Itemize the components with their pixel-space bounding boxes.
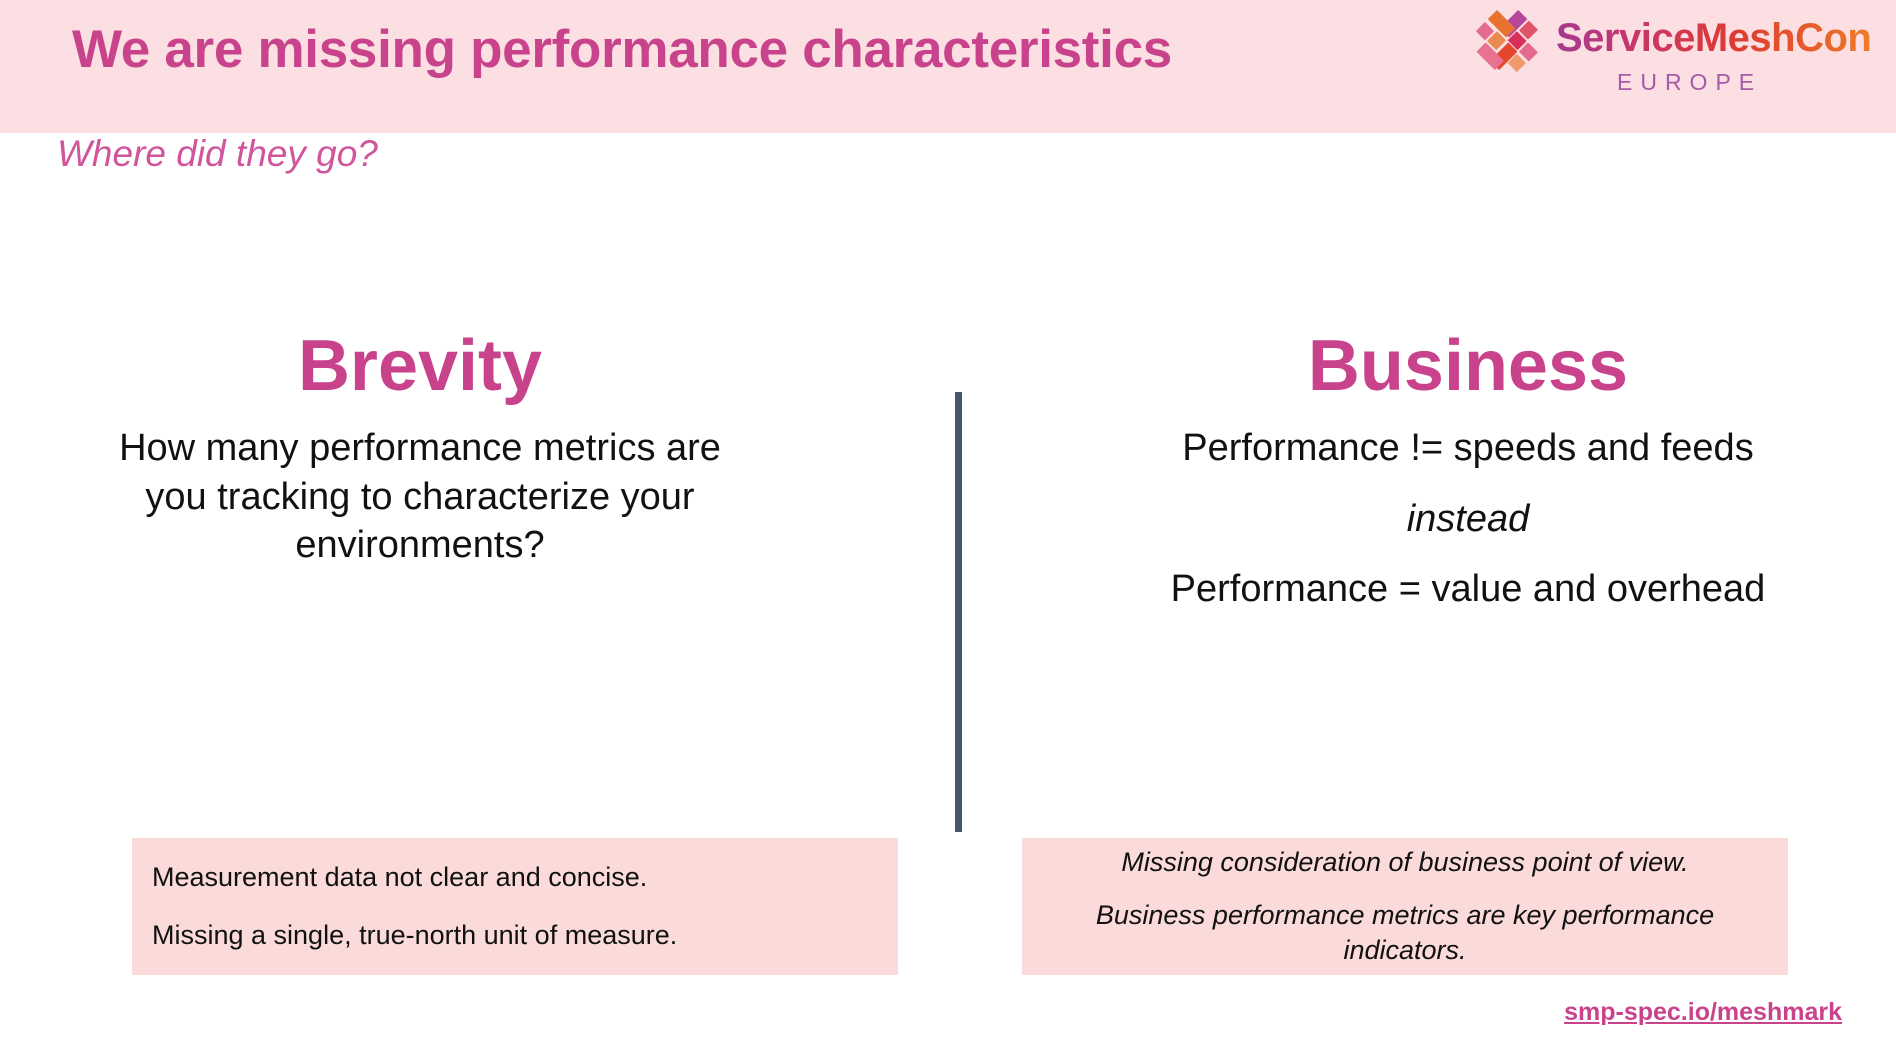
callout-line: Missing consideration of business point … (1048, 845, 1762, 880)
slide: We are missing performance characteristi… (0, 0, 1896, 1063)
page-title: We are missing performance characteristi… (72, 20, 1452, 81)
column-body-brevity: How many performance metrics are you tra… (10, 424, 830, 570)
column-body-line-instead: instead (1106, 495, 1830, 544)
logo-wordmark: ServiceMeshCon (1556, 16, 1871, 61)
column-body-line: Performance = value and overhead (1106, 565, 1830, 614)
callout-line: Business performance metrics are key per… (1048, 898, 1762, 968)
diamond-mesh-icon (1470, 10, 1548, 82)
column-body-business: Performance != speeds and feeds instead … (1068, 424, 1868, 614)
logo-region-label: EUROPE (1617, 69, 1762, 96)
column-heading-brevity: Brevity (10, 330, 830, 402)
callout-line: Measurement data not clear and concise. (152, 860, 878, 895)
footer-spec-link[interactable]: smp-spec.io/meshmark (1564, 998, 1842, 1027)
column-brevity: Brevity How many performance metrics are… (10, 330, 830, 570)
column-business: Business Performance != speeds and feeds… (1068, 330, 1868, 614)
column-body-line: How many performance metrics are you tra… (115, 424, 725, 570)
column-heading-business: Business (1068, 330, 1868, 402)
servicemeshcon-logo: ServiceMeshCon EUROPE (1470, 6, 1880, 118)
column-body-line: Performance != speeds and feeds (1106, 424, 1830, 473)
callout-line: Missing a single, true-north unit of mea… (152, 918, 878, 953)
callout-brevity: Measurement data not clear and concise. … (132, 838, 898, 975)
column-divider (955, 392, 962, 832)
slide-subtitle: Where did they go? (57, 133, 378, 175)
callout-business: Missing consideration of business point … (1022, 838, 1788, 975)
